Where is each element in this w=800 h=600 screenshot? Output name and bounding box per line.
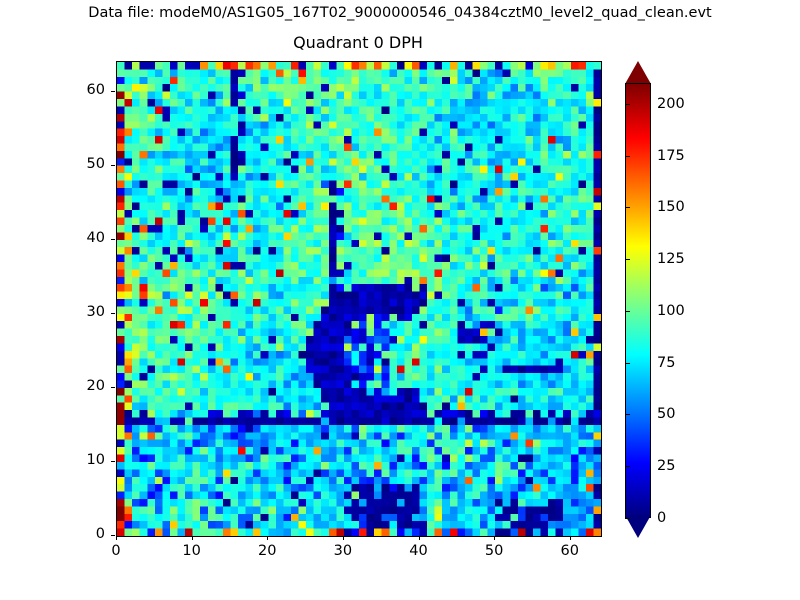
colorbar-tick-label: 200 bbox=[657, 96, 685, 112]
colorbar-tick-mark bbox=[625, 363, 630, 364]
y-tick-label: 30 bbox=[50, 304, 105, 320]
y-tick-mark bbox=[111, 165, 115, 166]
y-tick-label: 40 bbox=[50, 230, 105, 246]
colorbar-tick-mark bbox=[625, 207, 630, 208]
heatmap-axes[interactable] bbox=[116, 61, 602, 537]
colorbar-over-arrow-icon bbox=[625, 61, 651, 84]
detector-heatmap-image[interactable] bbox=[117, 62, 601, 536]
y-tick-mark bbox=[111, 535, 115, 536]
x-tick-mark bbox=[494, 536, 495, 540]
y-tick-label: 0 bbox=[50, 526, 105, 542]
x-tick-mark bbox=[570, 536, 571, 540]
colorbar-tick-label: 75 bbox=[657, 355, 675, 371]
x-tick-mark bbox=[419, 536, 420, 540]
colorbar-tick-label: 0 bbox=[657, 510, 666, 526]
y-tick-mark bbox=[111, 91, 115, 92]
y-tick-label: 20 bbox=[50, 378, 105, 394]
y-tick-label: 50 bbox=[50, 156, 105, 172]
colorbar-tick-label: 125 bbox=[657, 251, 685, 267]
y-tick-label: 60 bbox=[50, 82, 105, 98]
colorbar-tick-mark bbox=[625, 156, 630, 157]
axes-title: Quadrant 0 DPH bbox=[116, 33, 600, 52]
colorbar-tick-label: 150 bbox=[657, 199, 685, 215]
x-tick-label: 20 bbox=[242, 543, 292, 559]
x-tick-label: 0 bbox=[91, 543, 141, 559]
colorbar-tick-mark bbox=[625, 311, 630, 312]
colorbar-tick-label: 175 bbox=[657, 148, 685, 164]
x-tick-mark bbox=[116, 536, 117, 540]
x-tick-mark bbox=[192, 536, 193, 540]
colorbar-tick-mark bbox=[625, 414, 630, 415]
colorbar-tick-mark bbox=[625, 518, 630, 519]
x-tick-label: 60 bbox=[545, 543, 595, 559]
y-tick-mark bbox=[111, 313, 115, 314]
colorbar-tick-label: 100 bbox=[657, 303, 685, 319]
x-tick-label: 50 bbox=[469, 543, 519, 559]
colorbar-tick-label: 50 bbox=[657, 406, 675, 422]
colorbar-tick-label: 25 bbox=[657, 458, 675, 474]
x-tick-mark bbox=[343, 536, 344, 540]
colorbar-tick-mark bbox=[625, 466, 630, 467]
y-tick-mark bbox=[111, 239, 115, 240]
y-tick-mark bbox=[111, 387, 115, 388]
colorbar-tick-mark bbox=[625, 259, 630, 260]
colorbar[interactable]: 0255075100125150175200 bbox=[625, 61, 651, 538]
colorbar-tick-mark bbox=[625, 104, 630, 105]
colorbar-gradient bbox=[626, 84, 650, 517]
x-tick-label: 40 bbox=[394, 543, 444, 559]
x-tick-label: 10 bbox=[167, 543, 217, 559]
figure-suptitle: Data file: modeM0/AS1G05_167T02_90000005… bbox=[0, 5, 800, 21]
colorbar-body[interactable] bbox=[625, 83, 651, 518]
y-tick-label: 10 bbox=[50, 452, 105, 468]
x-tick-label: 30 bbox=[318, 543, 368, 559]
figure-canvas: Data file: modeM0/AS1G05_167T02_90000005… bbox=[0, 0, 800, 600]
x-tick-mark bbox=[267, 536, 268, 540]
y-tick-mark bbox=[111, 461, 115, 462]
